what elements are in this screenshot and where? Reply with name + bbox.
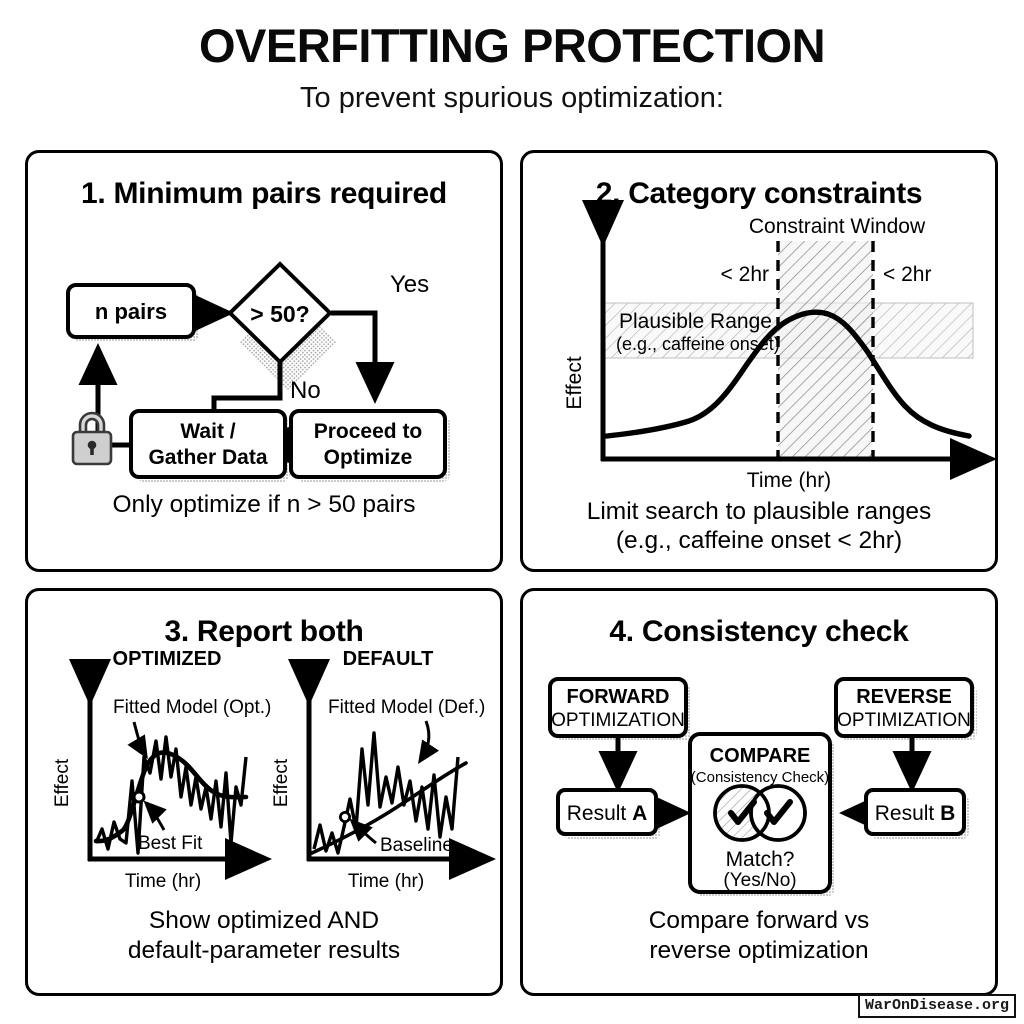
- svg-text:(Yes/No): (Yes/No): [723, 870, 796, 891]
- svg-text:(Consistency Check): (Consistency Check): [691, 769, 829, 786]
- svg-text:COMPARE: COMPARE: [710, 745, 811, 767]
- svg-text:Result A: Result A: [567, 802, 648, 825]
- svg-text:Effect: Effect: [271, 758, 292, 807]
- svg-text:Result B: Result B: [875, 802, 956, 825]
- venn-check-icon: [715, 786, 805, 840]
- page-subtitle: To prevent spurious optimization:: [0, 84, 1024, 113]
- panel-minimum-pairs: 1. Minimum pairs required: [25, 150, 503, 572]
- svg-text:Time (hr): Time (hr): [125, 871, 201, 892]
- svg-text:OPTIMIZATION: OPTIMIZATION: [551, 710, 685, 731]
- svg-text:Effect: Effect: [52, 758, 73, 807]
- svg-text:Effect: Effect: [563, 356, 586, 409]
- panel2-caption-line2: (e.g., caffeine onset < 2hr): [533, 527, 985, 556]
- panel-report-both: 3. Report both: [25, 588, 503, 996]
- svg-text:Wait /: Wait /: [180, 420, 235, 443]
- svg-text:DEFAULT: DEFAULT: [343, 648, 434, 670]
- panel1-caption: Only optimize if n > 50 pairs: [38, 491, 490, 520]
- watermark: WarOnDisease.org: [858, 994, 1016, 1018]
- panel4-caption-line1: Compare forward vs: [533, 907, 985, 936]
- svg-text:Match?: Match?: [726, 848, 795, 871]
- svg-text:> 50?: > 50?: [250, 301, 309, 327]
- svg-text:Fitted Model (Opt.): Fitted Model (Opt.): [113, 697, 271, 718]
- svg-text:Baseline: Baseline: [380, 835, 453, 856]
- svg-text:< 2hr: < 2hr: [721, 263, 769, 286]
- page-title: OVERFITTING PROTECTION: [0, 22, 1024, 69]
- svg-text:< 2hr: < 2hr: [883, 263, 931, 286]
- svg-text:Fitted Model (Def.): Fitted Model (Def.): [328, 697, 485, 718]
- panel4-caption-line2: reverse optimization: [533, 937, 985, 966]
- svg-text:Time (hr): Time (hr): [348, 871, 424, 892]
- svg-text:REVERSE: REVERSE: [856, 686, 952, 708]
- svg-text:Constraint Window: Constraint Window: [749, 215, 926, 238]
- svg-text:Time (hr): Time (hr): [747, 469, 831, 492]
- lock-icon: [73, 413, 111, 464]
- svg-text:OPTIMIZATION: OPTIMIZATION: [837, 710, 971, 731]
- svg-text:Optimize: Optimize: [324, 446, 413, 469]
- panel3-caption-line2: default-parameter results: [38, 937, 490, 966]
- svg-text:Gather Data: Gather Data: [148, 446, 267, 469]
- header: OVERFITTING PROTECTION To prevent spurio…: [0, 22, 1024, 113]
- svg-text:Proceed to: Proceed to: [314, 420, 423, 443]
- svg-text:FORWARD: FORWARD: [567, 686, 670, 708]
- panel-consistency-check: 4. Consistency check: [520, 588, 998, 996]
- svg-text:No: No: [290, 377, 321, 404]
- panel2-caption-line1: Limit search to plausible ranges: [533, 498, 985, 527]
- svg-text:Best Fit: Best Fit: [138, 833, 203, 854]
- svg-text:Plausible Range: Plausible Range: [619, 310, 772, 333]
- svg-text:Yes: Yes: [390, 271, 429, 298]
- panel3-caption-line1: Show optimized AND: [38, 907, 490, 936]
- svg-text:n pairs: n pairs: [95, 299, 167, 324]
- svg-text:OPTIMIZED: OPTIMIZED: [113, 648, 222, 670]
- svg-text:(e.g., caffeine onset): (e.g., caffeine onset): [616, 334, 780, 354]
- panel-category-constraints: 2. Category constraints: [520, 150, 998, 572]
